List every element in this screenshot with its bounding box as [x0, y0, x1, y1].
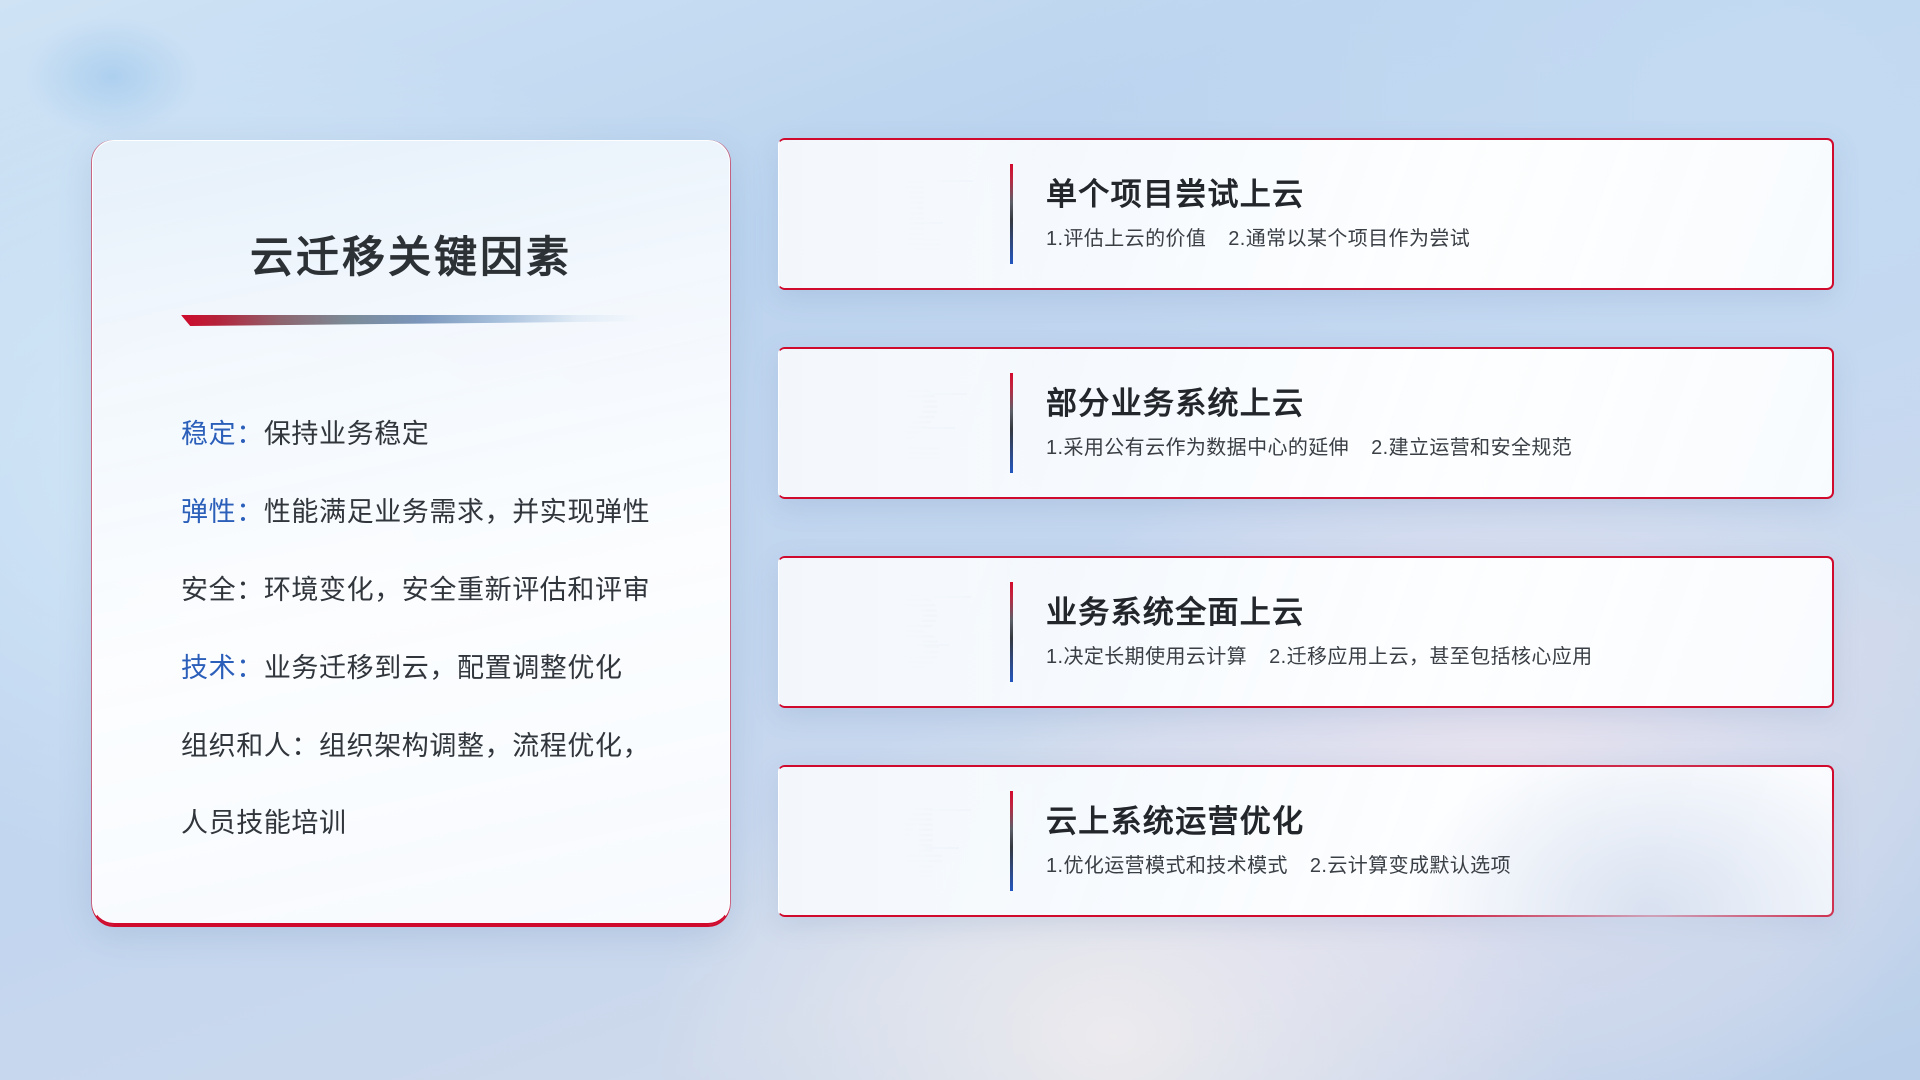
stage-card-03[interactable]: 03 业务系统全面上云 1.决定长期使用云计算2.迁移应用上云，甚至包括核心应用	[778, 556, 1834, 708]
factor-label: 安全：	[181, 575, 264, 605]
svg-text:04: 04	[821, 787, 949, 895]
factor-text: 组织架构调整，流程优化，	[319, 731, 650, 761]
stage-number-01-watermark: 01	[817, 160, 1017, 268]
stage-title: 云上系统运营优化	[1046, 804, 1792, 840]
stage-points: 1.优化运营模式和技术模式2.云计算变成默认选项	[1046, 854, 1792, 878]
stage-number-03-watermark: 03	[817, 578, 1017, 686]
stage-number-04-watermark: 04	[817, 787, 1017, 895]
factor-text: 保持业务稳定	[264, 419, 430, 449]
svg-text:02: 02	[821, 369, 949, 477]
title-underline-rule	[181, 315, 641, 326]
stage-point-1: 1.评估上云的价值	[1046, 228, 1206, 250]
list-item: 弹性：性能满足业务需求，并实现弹性	[181, 496, 673, 529]
stage-number-02-watermark: 02	[817, 369, 1017, 477]
factor-text: 环境变化，安全重新评估和评审	[264, 575, 650, 605]
list-item: 组织和人：组织架构调整，流程优化，	[181, 730, 673, 763]
stage-divider-line	[1010, 582, 1013, 682]
stage-card-04[interactable]: 04 云上系统运营优化 1.优化运营模式和技术模式2.云计算变成默认选项	[778, 765, 1834, 917]
stage-point-2: 2.云计算变成默认选项	[1310, 855, 1511, 877]
stage-card-02[interactable]: 02 部分业务系统上云 1.采用公有云作为数据中心的延伸2.建立运营和安全规范	[778, 347, 1834, 499]
stage-point-1: 1.优化运营模式和技术模式	[1046, 855, 1288, 877]
factor-label: 组织和人：	[181, 731, 319, 761]
stage-points: 1.决定长期使用云计算2.迁移应用上云，甚至包括核心应用	[1046, 645, 1792, 669]
slide-canvas: 云迁移关键因素 稳定：保持业务稳定 弹性：性能满足业务需求，并实现弹性 安全：环…	[0, 0, 1920, 1080]
factor-label: 弹性：	[181, 497, 264, 527]
list-item: 安全：环境变化，安全重新评估和评审	[181, 574, 673, 607]
factor-text: 业务迁移到云，配置调整优化	[264, 653, 623, 683]
factor-list: 稳定：保持业务稳定 弹性：性能满足业务需求，并实现弹性 安全：环境变化，安全重新…	[149, 418, 673, 840]
stage-point-1: 1.决定长期使用云计算	[1046, 646, 1247, 668]
stage-card-01[interactable]: 01 单个项目尝试上云 1.评估上云的价值2.通常以某个项目作为尝试	[778, 138, 1834, 290]
factor-text-continuation: 人员技能培训	[181, 801, 673, 840]
migration-stage-list: 01 单个项目尝试上云 1.评估上云的价值2.通常以某个项目作为尝试	[778, 138, 1834, 974]
factor-label: 技术：	[181, 653, 264, 683]
stage-divider-line	[1010, 373, 1013, 473]
stage-divider-line	[1010, 791, 1013, 891]
page-title: 云迁移关键因素	[149, 223, 673, 285]
stage-point-2: 2.建立运营和安全规范	[1371, 437, 1572, 459]
stage-point-2: 2.通常以某个项目作为尝试	[1228, 228, 1470, 250]
stage-title: 部分业务系统上云	[1046, 386, 1792, 422]
stage-title: 业务系统全面上云	[1046, 595, 1792, 631]
stage-points: 1.评估上云的价值2.通常以某个项目作为尝试	[1046, 227, 1792, 251]
factor-text: 性能满足业务需求，并实现弹性	[264, 497, 650, 527]
key-factors-panel: 云迁移关键因素 稳定：保持业务稳定 弹性：性能满足业务需求，并实现弹性 安全：环…	[92, 140, 730, 925]
stage-title: 单个项目尝试上云	[1046, 177, 1792, 213]
list-item: 稳定：保持业务稳定	[181, 418, 673, 451]
list-item: 技术：业务迁移到云，配置调整优化	[181, 652, 673, 685]
stage-points: 1.采用公有云作为数据中心的延伸2.建立运营和安全规范	[1046, 436, 1792, 460]
stage-divider-line	[1010, 164, 1013, 264]
stage-point-2: 2.迁移应用上云，甚至包括核心应用	[1269, 646, 1592, 668]
svg-text:03: 03	[821, 578, 949, 686]
factor-label: 稳定：	[181, 419, 264, 449]
svg-text:01: 01	[821, 160, 949, 268]
stage-point-1: 1.采用公有云作为数据中心的延伸	[1046, 437, 1349, 459]
